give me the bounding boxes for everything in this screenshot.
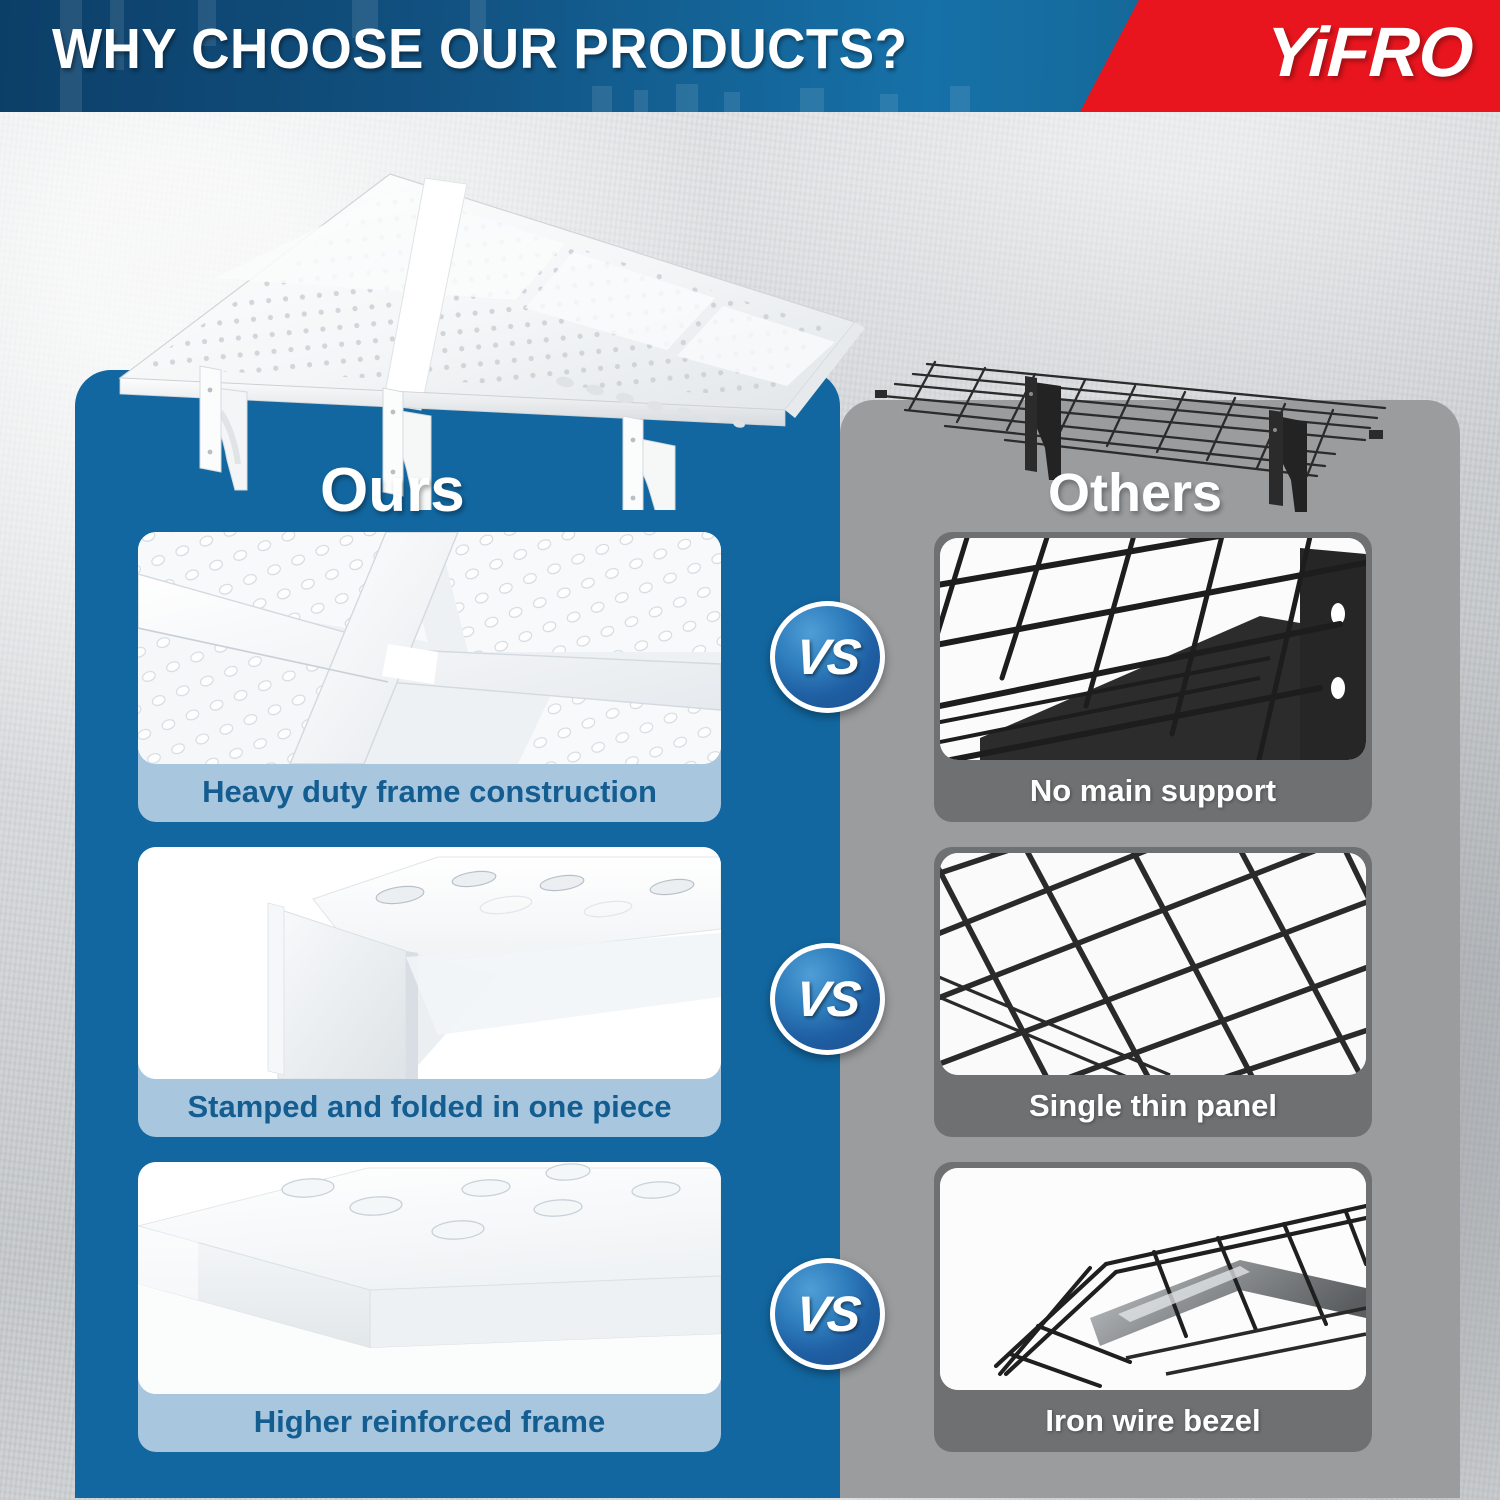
others-feature-caption-3: Iron wire bezel: [934, 1390, 1372, 1452]
ours-feature-card-3[interactable]: Higher reinforced frame: [138, 1162, 721, 1452]
vs-badge-2: VS: [770, 943, 885, 1055]
ours-feature-caption-2: Stamped and folded in one piece: [138, 1077, 721, 1137]
header-stripe: [592, 86, 612, 112]
header-stripe: [724, 92, 740, 112]
others-feature-photo-1: [940, 538, 1366, 760]
page-title: WHY CHOOSE OUR PRODUCTS?: [52, 16, 907, 82]
ours-feature-caption-3: Higher reinforced frame: [138, 1392, 721, 1452]
brand-logo: YiFRO: [1264, 12, 1475, 92]
ours-feature-card-2[interactable]: Stamped and folded in one piece: [138, 847, 721, 1137]
vs-badge-label: VS: [793, 628, 862, 686]
ours-feature-photo-2: [138, 847, 721, 1079]
ours-feature-card-1[interactable]: Heavy duty frame construction: [138, 532, 721, 822]
header-stripe: [634, 90, 648, 112]
vs-badge-1: VS: [770, 601, 885, 713]
ours-feature-caption-1: Heavy duty frame construction: [138, 762, 721, 822]
ours-feature-photo-1: [138, 532, 721, 764]
others-feature-photo-2: [940, 853, 1366, 1075]
ours-feature-photo-3: [138, 1162, 721, 1394]
header-stripe: [800, 88, 824, 112]
header-stripe: [880, 94, 898, 112]
others-feature-caption-2: Single thin panel: [934, 1075, 1372, 1137]
vs-badge-3: VS: [770, 1258, 885, 1370]
column-label-others: Others: [1048, 462, 1222, 524]
others-feature-card-1[interactable]: No main support: [934, 532, 1372, 822]
header-banner: WHY CHOOSE OUR PRODUCTS? YiFRO: [0, 0, 1500, 112]
ours-hero-product-image: [95, 160, 865, 510]
column-label-ours: Ours: [320, 455, 465, 526]
vs-badge-label: VS: [793, 1285, 862, 1343]
others-feature-caption-1: No main support: [934, 760, 1372, 822]
header-stripe: [950, 86, 970, 112]
vs-badge-label: VS: [793, 970, 862, 1028]
header-stripe: [676, 84, 698, 112]
others-feature-photo-3: [940, 1168, 1366, 1390]
others-feature-card-2[interactable]: Single thin panel: [934, 847, 1372, 1137]
others-feature-card-3[interactable]: Iron wire bezel: [934, 1162, 1372, 1452]
